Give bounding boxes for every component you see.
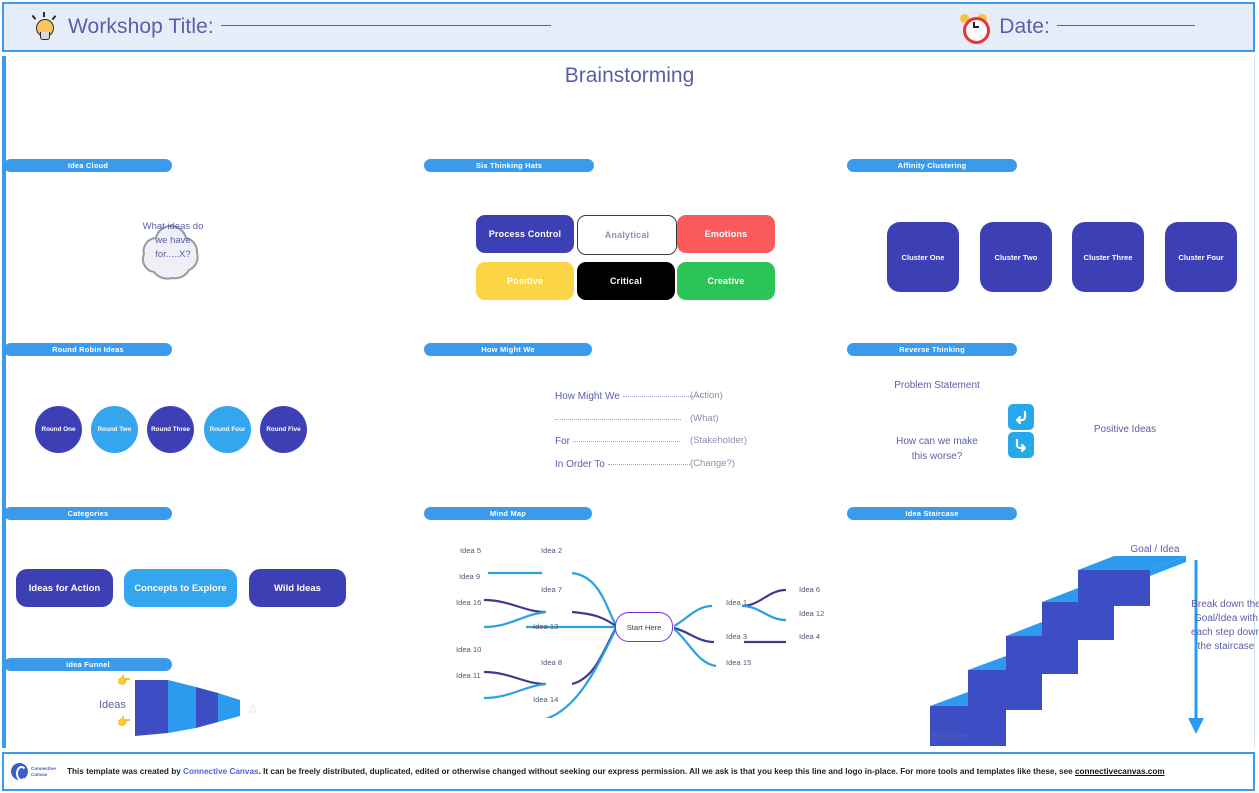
idea-cloud-shape: What ideas do we have for.....X? — [118, 218, 208, 300]
hmw-row-stakeholder[interactable]: For — [555, 436, 680, 447]
hmw-input-change[interactable] — [608, 463, 690, 465]
mindmap-node-idea-2[interactable]: Idea 2 — [541, 546, 562, 555]
funnel-input-label: Ideas — [99, 699, 126, 711]
hmw-hint-change: (Change?) — [690, 458, 735, 469]
hmw-input-what[interactable] — [555, 418, 681, 420]
staircase-goal-label: Goal / Idea — [1110, 543, 1200, 557]
category-card-ideas-for-action[interactable]: Ideas for Action — [16, 569, 113, 607]
hat-card-process-control[interactable]: Process Control — [476, 215, 574, 253]
workshop-title-group: Workshop Title: — [30, 12, 551, 42]
category-card-concepts-to-explore[interactable]: Concepts to Explore — [124, 569, 237, 607]
hmw-hint-what: (What) — [690, 413, 719, 424]
pointing-hand-icon-bottom: 👉 — [117, 715, 131, 728]
date-group: Date: — [959, 13, 1195, 41]
section-header-categories: Categories — [4, 507, 172, 520]
reverse-worse-question: How can we make this worse? — [887, 434, 987, 464]
logo-mark-icon — [11, 763, 28, 780]
undo-arrow-glyph — [1013, 409, 1029, 425]
staircase-side-note: Break down the Goal/Idea with each step … — [1190, 598, 1259, 654]
page-footer: Connective Canvas This template was crea… — [2, 752, 1255, 791]
redo-arrow-glyph — [1013, 437, 1029, 453]
hmw-row-action[interactable]: How Might We — [555, 391, 703, 402]
mindmap-node-idea-5[interactable]: Idea 5 — [460, 546, 481, 555]
alarm-clock-icon — [959, 13, 989, 41]
mindmap-node-idea-15[interactable]: Idea 15 — [726, 658, 751, 667]
cluster-card-one[interactable]: Cluster One — [887, 222, 959, 292]
section-header-mind-map: Mind Map — [424, 507, 592, 520]
brainstorming-template-page: Workshop Title: Date: Brainstorming Idea… — [0, 0, 1259, 793]
mindmap-node-idea-6[interactable]: Idea 6 — [799, 585, 820, 594]
logo-line-2: Canvas — [31, 772, 56, 778]
hmw-row-change[interactable]: In Order To — [555, 459, 690, 470]
mindmap-node-idea-8[interactable]: Idea 8 — [541, 658, 562, 667]
cluster-card-four[interactable]: Cluster Four — [1165, 222, 1237, 292]
date-input[interactable] — [1057, 25, 1195, 26]
footer-brand-link[interactable]: Connective Canvas — [183, 767, 259, 776]
round-circle-three[interactable]: Round Three — [147, 406, 194, 453]
page-header: Workshop Title: Date: — [2, 2, 1255, 52]
idea-cloud-text: What ideas do we have for.....X? — [140, 220, 206, 262]
category-card-wild-ideas[interactable]: Wild Ideas — [249, 569, 346, 607]
staircase-solution-label: Solution — [905, 731, 995, 745]
round-circle-four[interactable]: Round Four — [204, 406, 251, 453]
section-header-idea-cloud: Idea Cloud — [4, 159, 172, 172]
section-header-round-robin: Round Robin Ideas — [4, 343, 172, 356]
hmw-hint-stakeholder: (Stakeholder) — [690, 435, 747, 446]
footer-text-part1: This template was created by — [67, 767, 183, 776]
mindmap-node-idea-7[interactable]: Idea 7 — [541, 585, 562, 594]
mindmap-node-idea-1[interactable]: Idea 1 — [726, 598, 747, 607]
hmw-lead-in-order-to: In Order To — [555, 459, 605, 470]
mindmap-node-idea-13[interactable]: Idea 13 — [533, 622, 558, 631]
hmw-input-stakeholder[interactable] — [573, 440, 680, 442]
section-header-six-thinking-hats: Six Thinking Hats — [424, 159, 594, 172]
reverse-problem-statement: Problem Statement — [887, 378, 987, 393]
reverse-positive-ideas: Positive Ideas — [1075, 422, 1175, 437]
hat-card-analytical[interactable]: Analytical — [577, 215, 677, 255]
mindmap-node-idea-10[interactable]: Idea 10 — [456, 645, 481, 654]
mindmap-node-idea-9[interactable]: Idea 9 — [459, 572, 480, 581]
workshop-title-label: Workshop Title: — [68, 15, 214, 39]
section-header-how-might-we: How Might We — [424, 343, 592, 356]
footer-attribution: This template was created by Connective … — [67, 767, 1165, 776]
funnel-output-icon: △ — [249, 703, 257, 714]
mindmap-node-idea-3[interactable]: Idea 3 — [726, 632, 747, 641]
cluster-card-two[interactable]: Cluster Two — [980, 222, 1052, 292]
mindmap-node-idea-16[interactable]: Idea 16 — [456, 598, 481, 607]
section-header-idea-staircase: Idea Staircase — [847, 507, 1017, 520]
logo-line-1: Connective — [31, 766, 56, 772]
mindmap-node-idea-14[interactable]: Idea 14 — [533, 695, 558, 704]
mindmap-node-idea-12[interactable]: Idea 12 — [799, 609, 824, 618]
section-header-reverse-thinking: Reverse Thinking — [847, 343, 1017, 356]
hmw-row-what[interactable] — [555, 414, 681, 425]
hmw-hint-action: (Action) — [690, 390, 723, 401]
round-circle-one[interactable]: Round One — [35, 406, 82, 453]
hat-card-creative[interactable]: Creative — [677, 262, 775, 300]
page-title: Brainstorming — [0, 64, 1259, 88]
hat-card-positive[interactable]: Positive — [476, 262, 574, 300]
footer-website-link[interactable]: connectivecanvas.com — [1075, 767, 1165, 776]
pointing-hand-icon-top: 👉 — [117, 674, 131, 687]
round-circle-two[interactable]: Round Two — [91, 406, 138, 453]
redo-arrow-icon[interactable] — [1008, 432, 1034, 458]
mindmap-node-idea-4[interactable]: Idea 4 — [799, 632, 820, 641]
workshop-title-input[interactable] — [221, 25, 551, 26]
connective-canvas-logo: Connective Canvas — [11, 760, 57, 784]
date-label: Date: — [999, 15, 1050, 39]
logo-wordmark: Connective Canvas — [31, 766, 56, 778]
section-header-affinity-clustering: Affinity Clustering — [847, 159, 1017, 172]
undo-arrow-icon[interactable] — [1008, 404, 1034, 430]
lightbulb-icon — [30, 12, 58, 42]
hat-card-critical[interactable]: Critical — [577, 262, 675, 300]
round-circle-five[interactable]: Round Five — [260, 406, 307, 453]
cluster-card-three[interactable]: Cluster Three — [1072, 222, 1144, 292]
hmw-lead-for: For — [555, 436, 570, 447]
mindmap-node-idea-11[interactable]: Idea 11 — [456, 671, 481, 680]
footer-text-part2: . It can be freely distributed, duplicat… — [259, 767, 1075, 776]
mindmap-center-node[interactable]: Start Here — [615, 612, 673, 642]
hmw-lead-how-might-we: How Might We — [555, 391, 620, 402]
hat-card-emotions[interactable]: Emotions — [677, 215, 775, 253]
